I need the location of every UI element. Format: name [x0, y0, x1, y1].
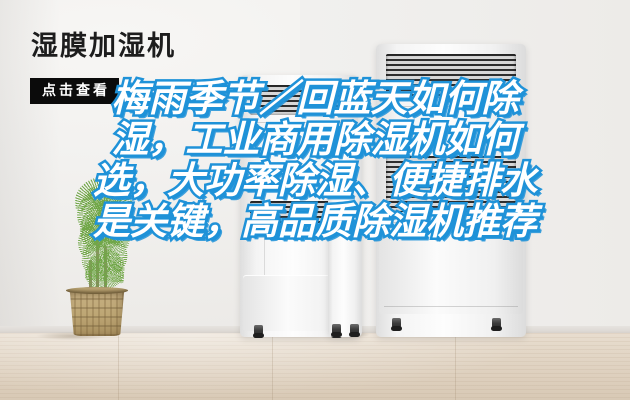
- floor-seam: [118, 333, 119, 400]
- caster-wheel: [350, 324, 359, 336]
- promo-banner: 湿膜加湿机 点击查看 梅雨季节／回蓝天如何除湿，工业商用除湿机如何选，大功率除湿…: [0, 0, 630, 400]
- caster-wheel: [392, 318, 401, 330]
- wicker-pot: [68, 290, 126, 336]
- palm-frond: [104, 279, 106, 280]
- caster-wheel: [332, 324, 341, 336]
- caster-wheel: [492, 318, 501, 330]
- headline-overlay-text: 梅雨季节／回蓝天如何除湿，工业商用除湿机如何选，大功率除湿、便捷排水是关键，高品…: [88, 78, 542, 242]
- floor-seam: [272, 333, 273, 400]
- caster-wheel: [254, 325, 263, 337]
- floor-light-sheen: [0, 333, 630, 400]
- floor-seam: [455, 333, 456, 400]
- wicker-pot-rim: [66, 287, 128, 294]
- panel-seam: [384, 306, 518, 307]
- page-title: 湿膜加湿机: [31, 33, 176, 60]
